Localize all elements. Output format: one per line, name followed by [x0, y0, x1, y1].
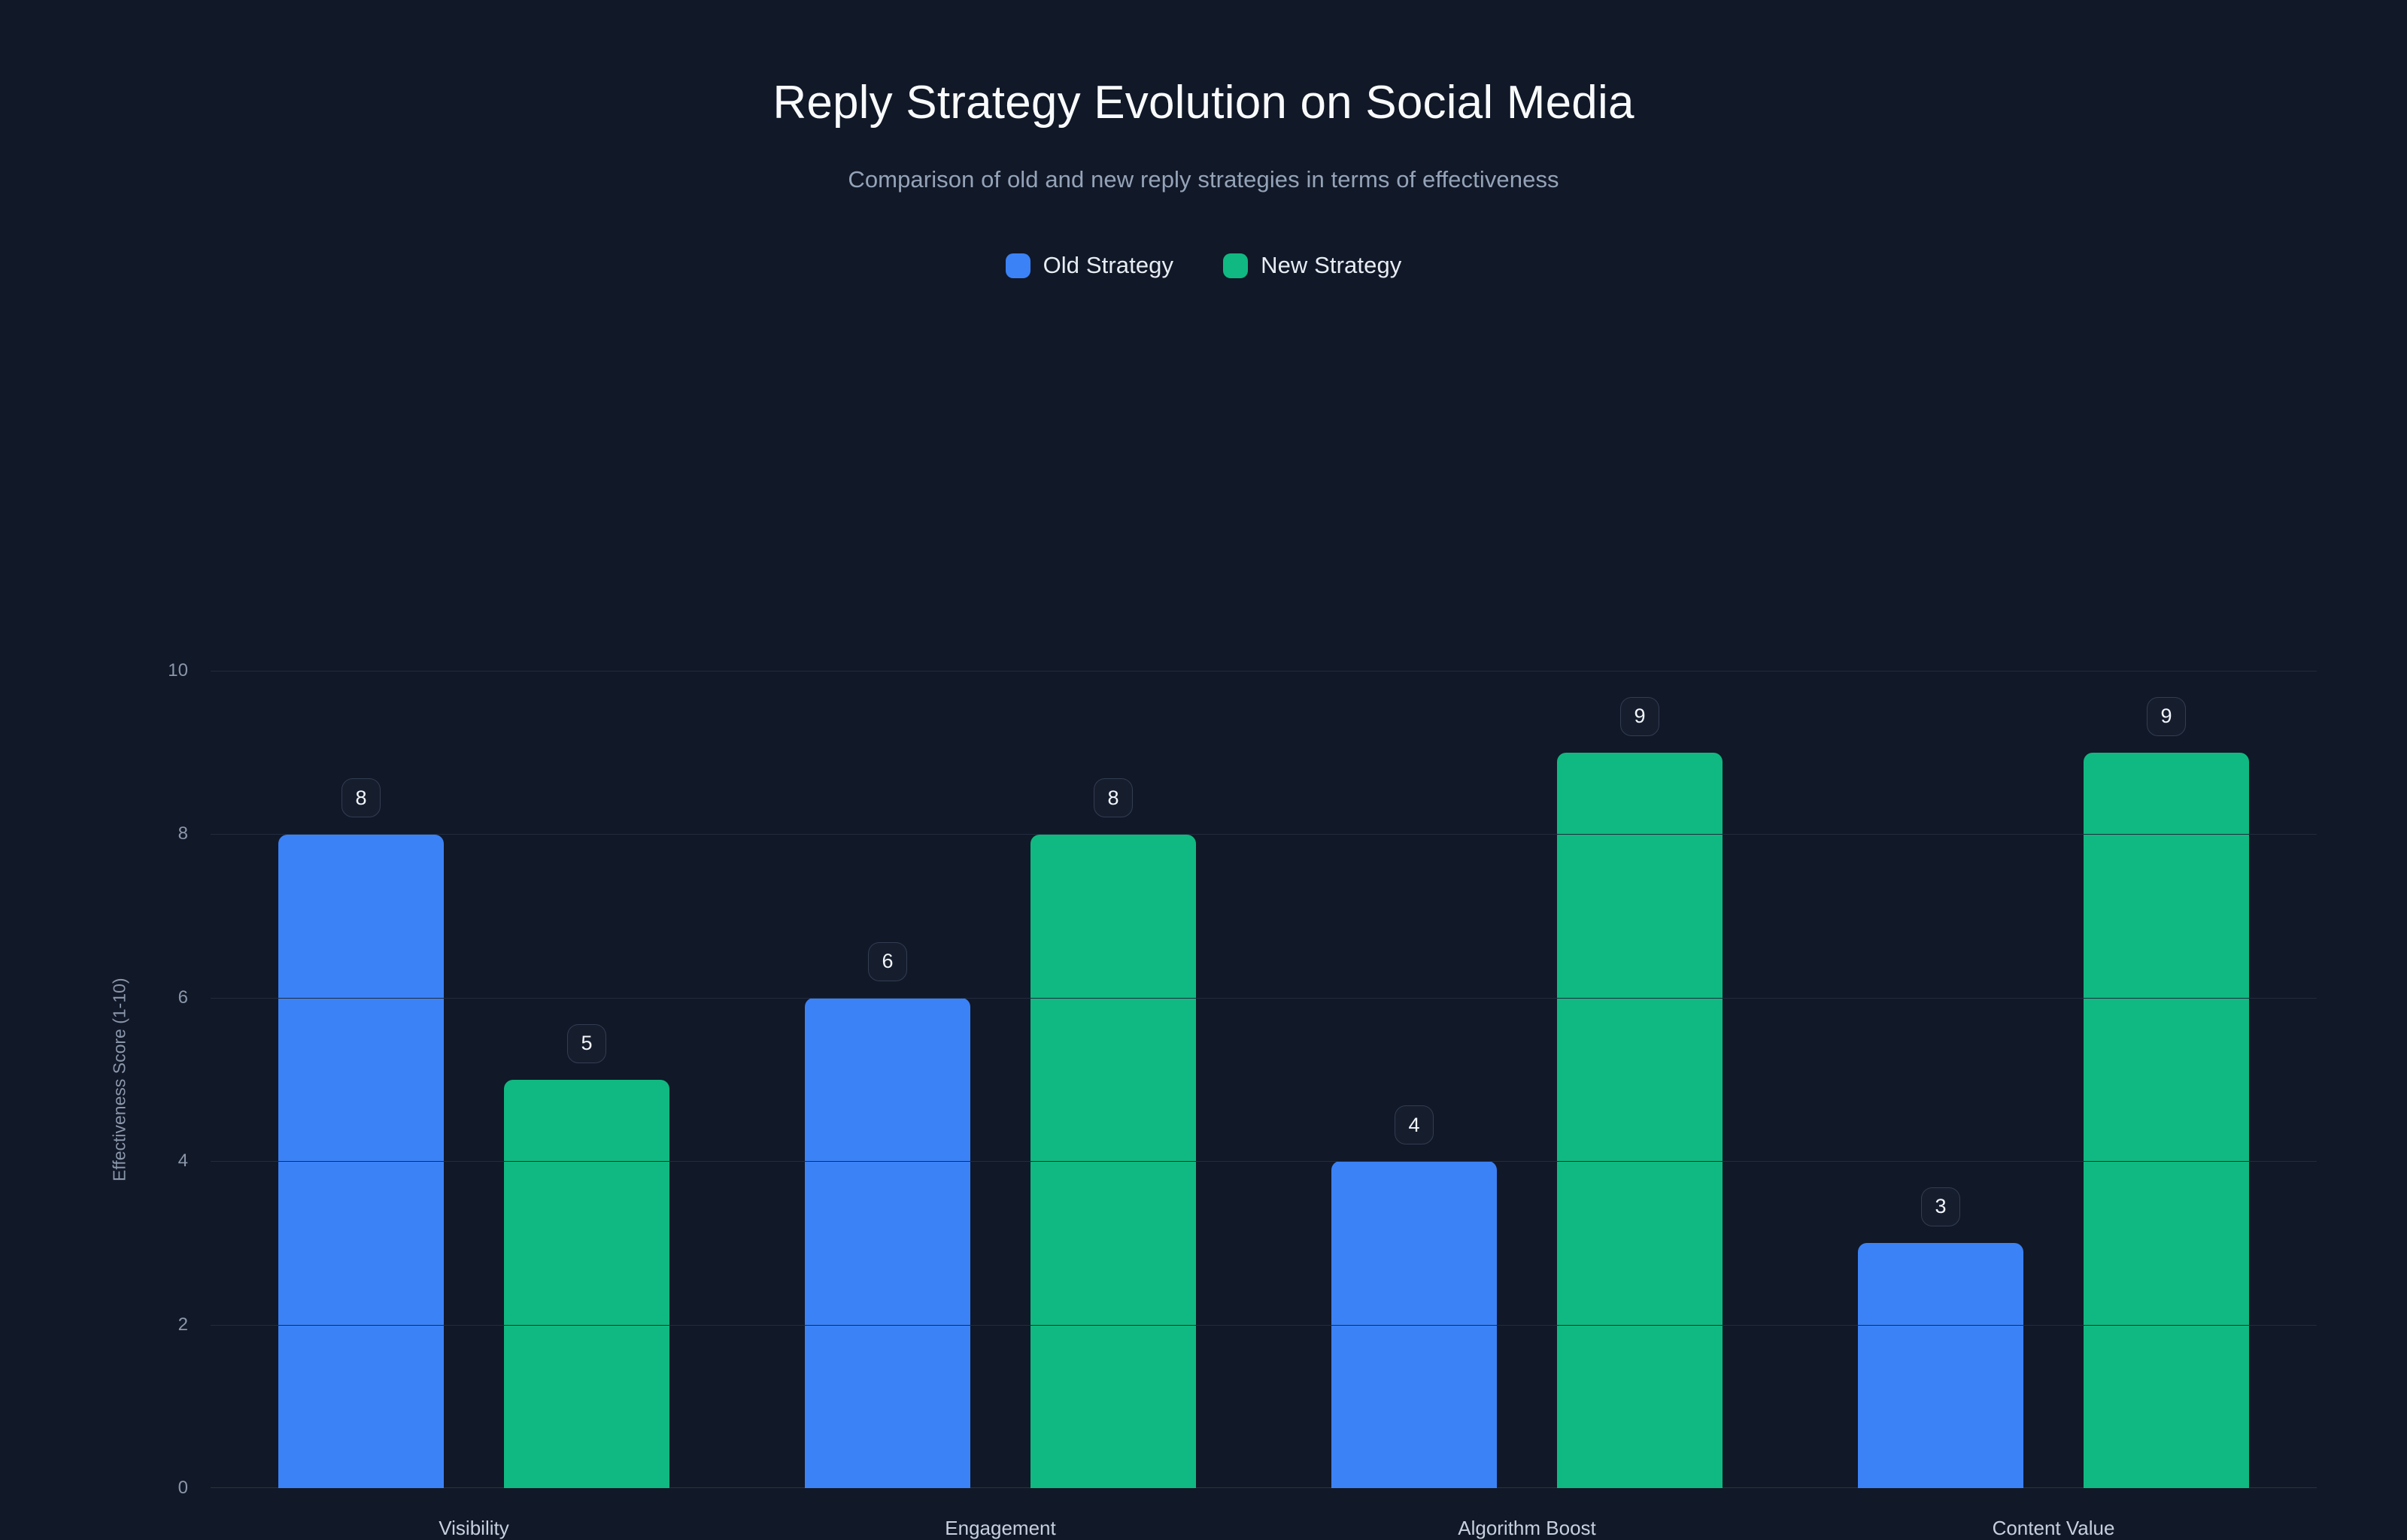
legend-swatch-icon: [1223, 253, 1248, 278]
gridline: [211, 1325, 2317, 1326]
y-axis-tick-label: 10: [168, 660, 188, 681]
x-axis-tick-label: Content Value: [1993, 1517, 2115, 1540]
chart-legend: Old StrategyNew Strategy: [0, 252, 2407, 279]
x-axis-tick-label: Visibility: [439, 1517, 508, 1540]
bar[interactable]: [805, 998, 970, 1488]
chart-subtitle: Comparison of old and new reply strategi…: [0, 166, 2407, 193]
legend-swatch-icon: [1006, 253, 1030, 278]
legend-item[interactable]: Old Strategy: [1006, 252, 1174, 279]
gridline: [211, 1161, 2317, 1162]
plot-area: 85Visibility68Engagement49Algorithm Boos…: [211, 671, 2317, 1488]
bar-value-label: 3: [1921, 1187, 1960, 1226]
bar-value-label: 8: [341, 778, 381, 817]
bar[interactable]: [1858, 1243, 2023, 1488]
gridline: [211, 834, 2317, 835]
legend-label: Old Strategy: [1043, 252, 1174, 279]
bar-value-label: 5: [567, 1024, 606, 1063]
gridline: [211, 998, 2317, 999]
y-axis-tick-label: 4: [178, 1150, 188, 1172]
gridline: [211, 671, 2317, 671]
chart-title: Reply Strategy Evolution on Social Media: [0, 78, 2407, 127]
bar[interactable]: [504, 1080, 669, 1489]
bars-layer: 85Visibility68Engagement49Algorithm Boos…: [211, 671, 2317, 1488]
y-axis-tick-label: 0: [178, 1478, 188, 1499]
bar-value-label: 8: [1094, 778, 1133, 817]
y-axis-title: Effectiveness Score (1-10): [107, 671, 132, 1488]
bar-chart: Reply Strategy Evolution on Social Media…: [0, 0, 2407, 1354]
bar-value-label: 9: [2147, 697, 2186, 736]
y-axis-tick-label: 8: [178, 823, 188, 844]
bar-value-label: 6: [868, 942, 907, 981]
bar-value-label: 9: [1620, 697, 1659, 736]
y-axis-tick-label: 6: [178, 987, 188, 1008]
chart-header: Reply Strategy Evolution on Social Media…: [0, 0, 2407, 193]
y-axis-tick-label: 2: [178, 1314, 188, 1335]
x-axis-tick-label: Engagement: [945, 1517, 1055, 1540]
legend-label: New Strategy: [1261, 252, 1401, 279]
x-axis-tick-label: Algorithm Boost: [1458, 1517, 1596, 1540]
bar-value-label: 4: [1395, 1105, 1434, 1144]
legend-item[interactable]: New Strategy: [1223, 252, 1401, 279]
bar[interactable]: [2084, 753, 2249, 1488]
plot-wrapper: Effectiveness Score (1-10) 85Visibility6…: [0, 279, 2407, 1354]
bar[interactable]: [1557, 753, 1723, 1488]
